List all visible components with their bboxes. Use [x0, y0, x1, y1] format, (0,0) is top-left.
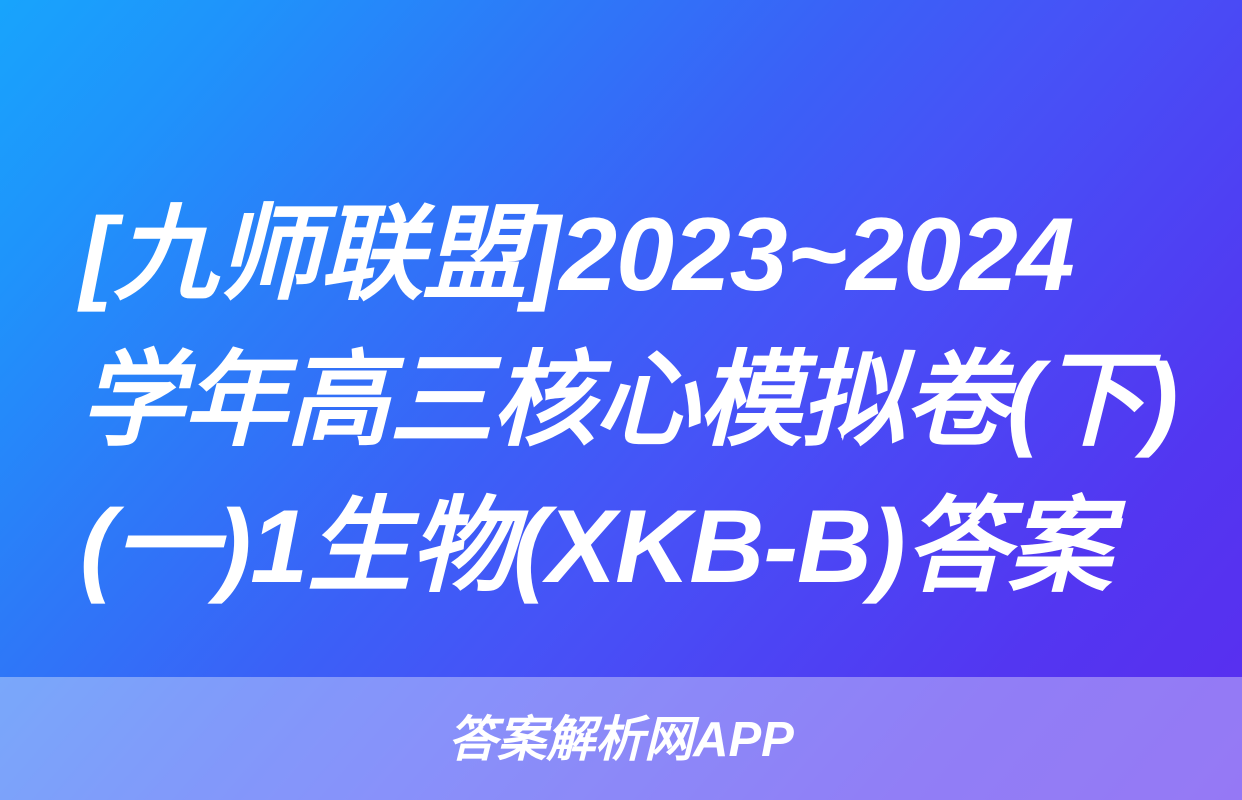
- watermark-text: 答案解析网APP: [448, 716, 794, 765]
- headline-line-1: [九师联盟]2023~2024: [80, 182, 1170, 328]
- headline-line-2: 学年高三核心模拟卷(下): [80, 328, 1170, 474]
- poster-canvas: [九师联盟]2023~2024 学年高三核心模拟卷(下) (一)1生物(XKB-…: [0, 0, 1242, 800]
- footer-watermark-band: 答案解析网APP: [0, 677, 1242, 800]
- headline-block: [九师联盟]2023~2024 学年高三核心模拟卷(下) (一)1生物(XKB-…: [80, 182, 1170, 620]
- headline-line-3: (一)1生物(XKB-B)答案: [80, 474, 1170, 620]
